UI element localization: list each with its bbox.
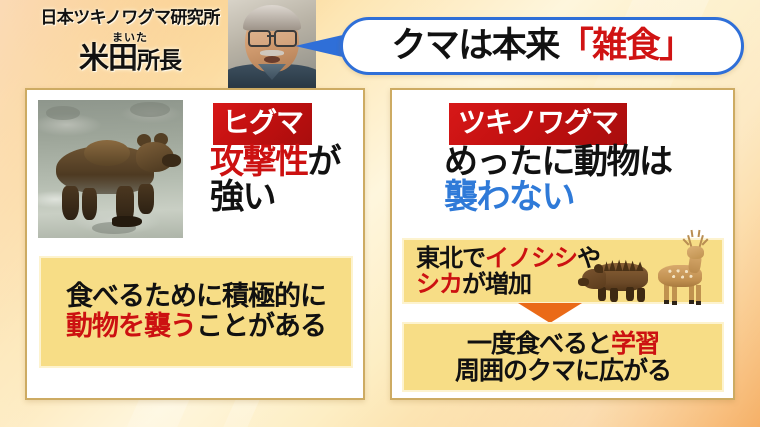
card-higuma: ヒグマ 攻撃性が 強い 食べるために積極的に 動物を襲うことがある	[25, 88, 365, 400]
glasses-bridge	[267, 35, 274, 37]
info-line-2: シカが増加	[416, 271, 531, 297]
boar-icon-leg	[637, 288, 645, 302]
info-line-1: 食べるために積極的に	[66, 282, 326, 312]
headline-line-1: めったに動物は	[444, 145, 672, 180]
title-text-plain: クマは本来	[391, 26, 559, 66]
headline-line-1: 攻撃性が	[210, 145, 340, 180]
boar-icon-leg	[610, 288, 618, 302]
bear-leg	[82, 188, 97, 220]
info-highlight-deer: シカ	[416, 270, 462, 298]
info-line-1: 東北でイノシシや	[416, 245, 600, 271]
person-job-title: 所長	[137, 48, 181, 74]
headline-plain: が	[308, 142, 341, 182]
rock-shape	[130, 102, 170, 117]
info-plain-a: 東北で	[416, 244, 485, 272]
title-text: クマは本来「雑食」	[391, 29, 693, 64]
portrait-mouth	[264, 56, 280, 63]
boar-icon-ear	[594, 264, 603, 273]
deer-icon-antler	[698, 230, 701, 237]
bear-snout	[162, 154, 181, 167]
headline-highlight: 攻撃性	[210, 142, 308, 182]
info-box-learning: 一度食べると学習 周囲のクマに広がる	[402, 322, 724, 392]
boar-icon-snout	[578, 278, 589, 286]
headline-line-2: 強い	[210, 180, 340, 215]
organization-name: 日本ツキノワグマ研究所	[24, 10, 236, 27]
info-highlight: 学習	[611, 329, 659, 358]
info-plain: ことがある	[196, 311, 326, 342]
rock-shape	[46, 106, 80, 120]
deer-icon-head	[687, 246, 704, 259]
animal-illustrations	[582, 243, 714, 303]
down-arrow-icon	[518, 303, 582, 323]
info-line-2: 動物を襲うことがある	[66, 312, 326, 342]
title-banner: クマは本来「雑食」	[340, 17, 744, 75]
info-highlight: 動物を襲う	[66, 311, 196, 342]
card-tsukinowaguma: ツキノワグマ めったに動物は 襲わない 東北でイノシシや シカが増加	[390, 88, 735, 400]
glasses-icon	[248, 30, 271, 47]
headline-tsukinowaguma: めったに動物は 襲わない	[444, 145, 672, 216]
info-line-1: 一度食べると学習	[467, 330, 659, 358]
info-plain-c: が増加	[462, 270, 531, 298]
info-line-2: 周囲のクマに広がる	[455, 357, 671, 385]
info-box-higuma: 食べるために積極的に 動物を襲うことがある	[39, 256, 353, 368]
person-name: 米田所長	[24, 44, 236, 74]
boar-icon-leg	[626, 287, 634, 301]
info-highlight-boar: イノシシ	[485, 244, 577, 272]
headline-higuma: 攻撃性が 強い	[210, 145, 340, 216]
bear-paw	[112, 216, 142, 227]
bear-shoulder-hump	[84, 140, 130, 166]
glasses-icon	[274, 30, 297, 47]
researcher-name-block: 日本ツキノワグマ研究所 まいた 米田所長	[24, 10, 236, 74]
deer-icon-antler	[691, 230, 694, 237]
info-plain: 一度食べると	[467, 329, 611, 358]
deer-icon-hoof	[689, 300, 694, 304]
badge-higuma: ヒグマ	[213, 103, 312, 145]
badge-tsukinowaguma: ツキノワグマ	[449, 103, 627, 145]
title-text-highlight: 「雑食」	[559, 26, 693, 66]
tv-news-graphic-slide: 日本ツキノワグマ研究所 まいた 米田所長 クマは本来「雑食」	[0, 0, 760, 427]
deer-icon-hoof	[664, 300, 669, 304]
deer-icon-hoof	[696, 301, 701, 305]
headline-line-2: 襲わない	[444, 180, 672, 215]
person-surname: 米田	[79, 41, 137, 76]
info-box-tohoku-increase: 東北でイノシシや シカが増加	[402, 238, 724, 304]
deer-icon-hoof	[672, 301, 677, 305]
bear-leg	[138, 184, 154, 214]
boar-icon-leg	[598, 287, 606, 301]
bear-leg	[62, 186, 79, 220]
brown-bear-photo	[38, 100, 183, 238]
